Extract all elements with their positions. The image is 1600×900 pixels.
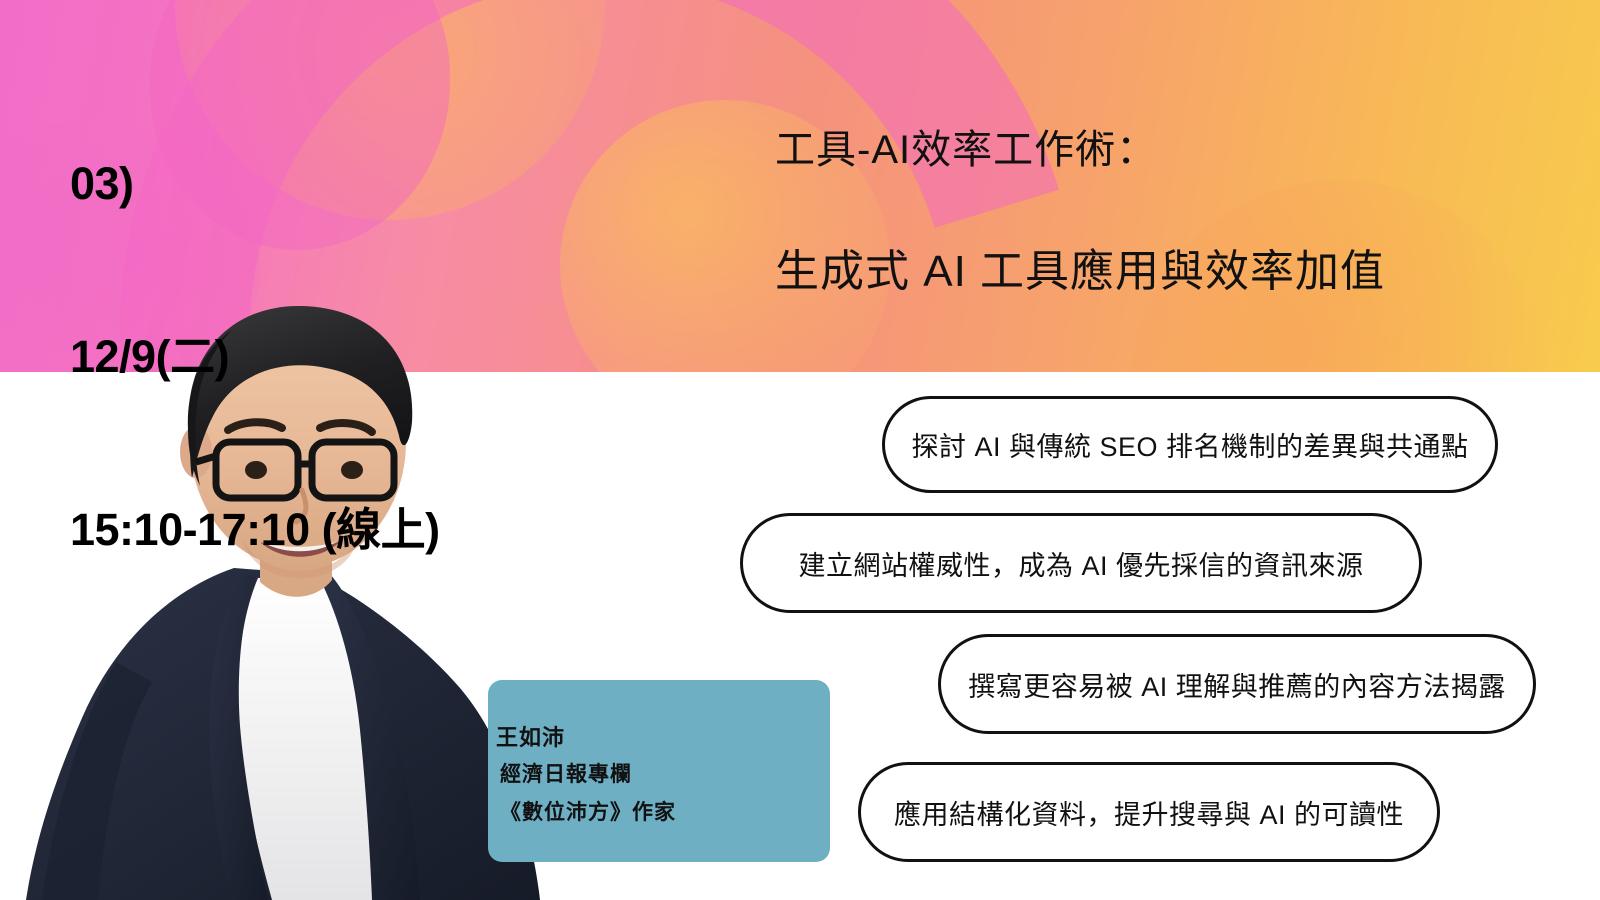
session-title-line-2: 生成式 AI 工具應用與效率加值 [775, 250, 1385, 294]
session-number: 03) [70, 155, 440, 213]
slide-canvas: 03) 12/9(二) 15:10-17:10 (線上) 工具-AI效率工作術：… [0, 0, 1600, 900]
bullet-pill-1: 探討 AI 與傳統 SEO 排名機制的差異與共通點 [882, 396, 1498, 493]
bullet-pill-3-label: 撰寫更容易被 AI 理解與推薦的內容方法揭露 [968, 665, 1506, 704]
speaker-name: 王如沛 [496, 720, 838, 752]
session-datetime-block: 03) 12/9(二) 15:10-17:10 (線上) [70, 40, 440, 674]
session-date: 12/9(二) [70, 328, 440, 386]
speaker-info-card: 王如沛 經濟日報專欄 《數位沛方》作家 [488, 680, 830, 862]
speaker-role-line-1: 經濟日報專欄 [500, 758, 842, 788]
bullet-pill-1-label: 探討 AI 與傳統 SEO 排名機制的差異與共通點 [911, 425, 1468, 464]
session-time: 15:10-17:10 (線上) [70, 501, 440, 559]
bullet-pill-2-label: 建立網站權威性，成為 AI 優先採信的資訊來源 [798, 544, 1363, 583]
bullet-pill-4-label: 應用結構化資料，提升搜尋與 AI 的可讀性 [894, 793, 1404, 832]
bullet-pill-2: 建立網站權威性，成為 AI 優先採信的資訊來源 [740, 513, 1422, 613]
session-title-line-1: 工具-AI效率工作術： [775, 130, 1385, 170]
session-title-block: 工具-AI效率工作術： 生成式 AI 工具應用與效率加值 [775, 130, 1385, 294]
bullet-pill-4: 應用結構化資料，提升搜尋與 AI 的可讀性 [858, 762, 1440, 862]
speaker-role-line-2: 《數位沛方》作家 [500, 796, 842, 826]
bullet-pill-3: 撰寫更容易被 AI 理解與推薦的內容方法揭露 [938, 634, 1536, 734]
